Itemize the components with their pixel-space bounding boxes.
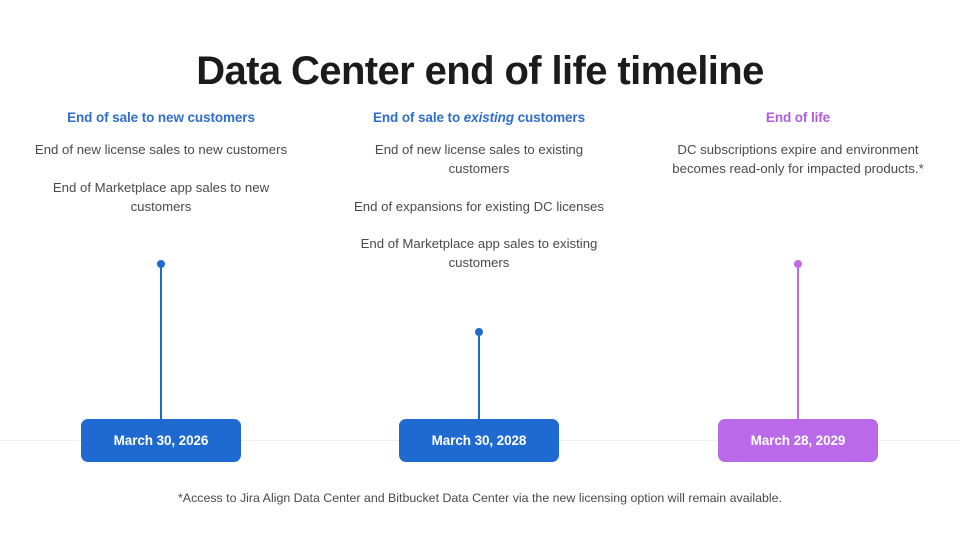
- timeline-dot-icon: [157, 260, 165, 268]
- date-badge-3: March 28, 2029: [718, 419, 878, 462]
- timeline-stem-2: [478, 332, 480, 430]
- milestone-heading-2: End of sale to existing customers: [329, 108, 629, 127]
- milestone-column-3: End of life DC subscriptions expire and …: [648, 108, 948, 179]
- milestone-heading-text-3: End of life: [766, 110, 830, 125]
- milestone-heading-text-1: End of sale to new customers: [67, 110, 255, 125]
- milestone-bullet: End of Marketplace app sales to new cust…: [11, 179, 311, 216]
- timeline-dot-icon: [475, 328, 483, 336]
- milestone-heading-suffix-2: customers: [514, 110, 585, 125]
- milestone-bullet: End of expansions for existing DC licens…: [329, 198, 629, 217]
- timeline-stem-1: [160, 264, 162, 430]
- milestone-bullet: DC subscriptions expire and environment …: [648, 141, 948, 178]
- footnote: *Access to Jira Align Data Center and Bi…: [0, 490, 960, 507]
- milestone-bullets-1: End of new license sales to new customer…: [11, 141, 311, 216]
- page-title: Data Center end of life timeline: [0, 49, 960, 93]
- date-badge-1: March 30, 2026: [81, 419, 241, 462]
- milestone-heading-emphasis-2: existing: [464, 110, 514, 125]
- timeline-stem-3: [797, 264, 799, 430]
- milestone-bullets-3: DC subscriptions expire and environment …: [648, 141, 948, 178]
- date-badge-2: March 30, 2028: [399, 419, 559, 462]
- milestone-column-1: End of sale to new customers End of new …: [11, 108, 311, 216]
- milestone-column-2: End of sale to existing customers End of…: [329, 108, 629, 273]
- milestone-heading-text-2: End of sale to: [373, 110, 464, 125]
- milestone-bullet: End of new license sales to existing cus…: [329, 141, 629, 178]
- milestone-heading-3: End of life: [648, 108, 948, 127]
- timeline-dot-icon: [794, 260, 802, 268]
- milestone-bullets-2: End of new license sales to existing cus…: [329, 141, 629, 273]
- milestone-heading-1: End of sale to new customers: [11, 108, 311, 127]
- milestone-bullet: End of new license sales to new customer…: [11, 141, 311, 160]
- timeline-slide: Data Center end of life timeline End of …: [0, 0, 960, 540]
- milestone-bullet: End of Marketplace app sales to existing…: [329, 235, 629, 272]
